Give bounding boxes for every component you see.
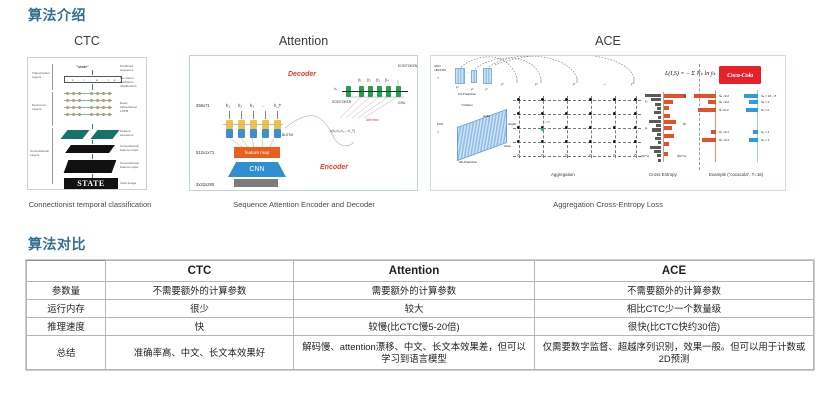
- ace-gray-bar: [652, 128, 661, 131]
- ace-orange-bar: [664, 106, 669, 110]
- ace-example-blue-label: N₁ = 1: [761, 130, 769, 134]
- ctc-node-link: [64, 93, 112, 94]
- cell-attention: 解码慢、attention漂移、中文、长文本效果差，但可以学习到语言模型: [294, 336, 535, 370]
- ace-lattice-col-line: [591, 96, 592, 158]
- ace-example-orange-label: N̄ₐ =0.2: [719, 100, 729, 104]
- attention-blstm-label: BLSTM: [282, 133, 293, 137]
- table-row: 总结准确率高、中文、长文本效果好解码慢、attention漂移、中文、长文本效果…: [27, 336, 814, 370]
- ace-gray-bar: [650, 146, 661, 149]
- cell-ctc: 准确率高、中文、长文本效果好: [106, 336, 294, 370]
- ace-panel-caption-aggregation: Aggregation: [551, 172, 575, 177]
- cell-ctc: 很少: [106, 300, 294, 318]
- attention-eos-label: EOS/TOKEN: [398, 64, 417, 68]
- ctc-annotation-per-frame: Per-framepredictiondistributions: [120, 77, 147, 89]
- attention-sos-label: SOS/TOKEN: [332, 100, 351, 104]
- ctc-node-link: [64, 107, 112, 108]
- row-label: 推理速度: [27, 318, 106, 336]
- ctc-node-link: [64, 100, 112, 101]
- ace-lattice-col-line: [519, 96, 520, 158]
- table-header-row: CTC Attention ACE: [27, 261, 814, 282]
- ace-example-orange-bar: [698, 108, 716, 112]
- ace-lattice-row-line: [513, 142, 641, 143]
- table-row: 运行内存很少较大相比CTC少一个数量级: [27, 300, 814, 318]
- attention-token-ellipsis: ...: [262, 103, 266, 108]
- ace-example-orange-label: N̄ₑ =0.2: [719, 94, 729, 98]
- attention-output-y2: y₂: [367, 77, 371, 82]
- ace-example-blue-bar: [749, 100, 758, 104]
- ace-orange-bar: [664, 134, 674, 138]
- ace-gray-bar: [654, 111, 661, 114]
- attention-token-h3: h₃: [250, 103, 254, 108]
- ctc-group-label-transcription: TranscriptionLayers: [32, 72, 52, 80]
- figure-ctc-diagram: TranscriptionLayers RecurrentLayers Conv…: [27, 57, 147, 190]
- ace-orange-bar: [664, 120, 676, 124]
- attention-feature-map-block: feature map: [234, 147, 280, 158]
- section-title-algorithm-intro: 算法介绍: [28, 5, 86, 25]
- row-label: 运行内存: [27, 300, 106, 318]
- cell-ctc: 不需要额外的计算参数: [106, 282, 294, 300]
- table-header-ace: ACE: [535, 261, 814, 282]
- ace-label-fcn: FCN: [437, 122, 443, 126]
- ctc-annotation-predicted-sequence: Predictedsequence: [120, 65, 146, 73]
- attention-input-image: [234, 179, 278, 187]
- attention-token-h1: h₁: [226, 103, 230, 108]
- attention-decoder-label: Decoder: [288, 71, 316, 78]
- attention-output-y3: y₃: [376, 77, 380, 82]
- attention-dim-input: 3x32x280: [196, 182, 214, 187]
- ace-gray-bar: [657, 154, 661, 157]
- figure-label-ctc: CTC: [27, 34, 147, 48]
- ace-gray-bar: [657, 107, 661, 110]
- attention-output-y1: y₁: [358, 77, 362, 82]
- ace-lattice-col-line: [636, 96, 637, 158]
- ace-example-blue-label: Nₒ = 2: [761, 138, 769, 142]
- ace-example-blue-bar: [753, 130, 758, 134]
- ctc-annotation-featmap-2: Convolutionalfeature maps: [120, 162, 146, 170]
- table-header-attention: Attention: [294, 261, 535, 282]
- ace-example-orange-bar: [694, 94, 716, 98]
- row-label: 参数量: [27, 282, 106, 300]
- ace-label-flatten: ⇧Flatten: [461, 103, 473, 107]
- ace-gray-bar: [658, 141, 661, 144]
- cell-ace: 很快(比CTC快约30倍): [535, 318, 814, 336]
- ctc-annotation-input-image: Input image: [120, 182, 146, 186]
- slide-root: 算法介绍 CTC Attention ACE TranscriptionLaye…: [0, 0, 832, 404]
- cell-attention: 较慢(比CTC慢5-20倍): [294, 318, 535, 336]
- section-title-algorithm-comparison: 算法对比: [28, 234, 86, 254]
- figure-label-attention: Attention: [189, 34, 418, 48]
- attention-h0-label: h₀: [334, 87, 337, 91]
- ace-lattice-row-line: [513, 156, 641, 157]
- cell-ace: 仅需要数字监督、超越序列识别，效果一般。但可以用于计数或2D预测: [535, 336, 814, 370]
- table-header-ctc: CTC: [106, 261, 294, 282]
- algorithm-comparison-table: CTC Attention ACE 参数量不需要额外的计算参数需要额外的计算参数…: [26, 260, 814, 370]
- figure-caption-ace: Aggregation Cross-Entropy Loss: [430, 200, 786, 209]
- ace-example-orange-bar: [711, 130, 716, 134]
- ace-gray-bar: [655, 103, 661, 106]
- ace-example-orange-label: N̄ₒ =0.2: [719, 138, 729, 142]
- ace-nbar-1: N̄₁: [683, 94, 686, 98]
- ace-label-cnn-blstm: CNN+BLSTM: [434, 64, 452, 72]
- ace-example-orange-bar: [702, 138, 716, 142]
- attention-attention-label: Attention: [366, 118, 379, 122]
- ace-lattice-col-line: [543, 96, 544, 158]
- table-row: 参数量不需要额外的计算参数需要额外的计算参数不需要额外的计算参数: [27, 282, 814, 300]
- ace-arrow-up-2: ⇧: [437, 130, 440, 134]
- ace-gray-bar: [645, 94, 661, 97]
- ace-orange-bar: [664, 142, 669, 146]
- ace-nbar-last: N̄|C^s|: [677, 154, 686, 158]
- ace-loss-equation: L(I,S) = − Σ N̄ₖ ln ȳₖ: [665, 70, 716, 77]
- attention-context-vector: c(h₁,h₂,h₃,...,h_T): [330, 129, 355, 133]
- table-row: 推理速度快较慢(比CTC慢5-20倍)很快(比CTC快约30倍): [27, 318, 814, 336]
- ace-panel-caption-cross-entropy: Cross Entropy: [649, 172, 677, 177]
- ace-orange-bar: [664, 100, 673, 104]
- ace-gray-bar: [649, 120, 661, 123]
- ace-example-orange-bar: [708, 100, 716, 104]
- cell-ace: 不需要额外的计算参数: [535, 282, 814, 300]
- ace-example-blue-label: Nₑ = 10 − 8: [761, 94, 776, 98]
- ctc-group-label-convolutional: ConvolutionalLayers: [30, 150, 53, 158]
- ace-ybar-last: ȳ|C^s|: [641, 154, 649, 158]
- ace-lattice-row-line: [513, 100, 641, 101]
- ace-orange-bar: [664, 126, 672, 130]
- ace-label-1d-prediction: 1D-Prediction: [458, 92, 476, 96]
- attention-output-y4: y₄: [385, 77, 389, 82]
- ace-lattice-col-line: [615, 96, 616, 158]
- ace-gray-bar: [655, 137, 661, 140]
- ace-panel-caption-example: Example ("cocacola", T=16): [709, 172, 763, 177]
- ctc-input-text: STATE: [77, 179, 105, 188]
- attention-encoder-label: Encoder: [320, 164, 348, 171]
- ace-label-2d-prediction: 2D-Prediction: [459, 160, 477, 164]
- ace-ybar-1: ȳ₁: [645, 99, 647, 103]
- ace-lattice-row-line: [513, 114, 641, 115]
- ace-gray-bar: [658, 116, 661, 119]
- ctc-group-label-recurrent: RecurrentLayers: [32, 104, 52, 112]
- figure-ace-diagram: CNN+BLSTM ⇧ FCN ⇧ - - y¹ y² y³ 1D-Predic…: [430, 55, 786, 191]
- ace-example-blue-bar: [749, 138, 758, 142]
- ace-nbar-k: N̄ₖ: [683, 122, 686, 126]
- ace-cocacola-logo: Coca-Cola: [719, 66, 761, 84]
- ctc-top-word: "state": [76, 64, 89, 69]
- ace-example-blue-bar: [746, 108, 758, 112]
- cell-attention: 较大: [294, 300, 535, 318]
- ace-lattice-col-line: [567, 96, 568, 158]
- attention-token-h2: h₂: [238, 103, 242, 108]
- ace-orange-bar: [664, 152, 668, 156]
- ace-orange-bar: [664, 114, 670, 118]
- ace-example-orange-label: N̄₁ =0.1: [719, 130, 729, 134]
- ace-arrow-up-1: ⇧: [437, 76, 440, 80]
- ace-2d-cube: [457, 109, 507, 161]
- cell-ctc: 快: [106, 318, 294, 336]
- ace-highlight-cell: [541, 128, 544, 131]
- attention-cnn-block: CNN: [228, 162, 286, 177]
- figure-label-ace: ACE: [430, 34, 786, 48]
- table-header-blank: [27, 261, 106, 282]
- ace-example-orange-label: N̄ₗ =0.3: [719, 108, 728, 112]
- figure-caption-ctc: Connectionist temporal classification: [0, 200, 180, 209]
- figure-caption-attention: Sequence Attention Encoder and Decoder: [186, 200, 422, 209]
- ace-gray-bar: [654, 150, 661, 153]
- ace-ybar-k: ȳₖ: [645, 126, 648, 130]
- cell-attention: 需要额外的计算参数: [294, 282, 535, 300]
- ace-example-blue-label: Nₐ = 2: [761, 100, 769, 104]
- ace-example-blue-bar: [744, 94, 758, 98]
- ace-gray-bar: [658, 159, 661, 162]
- ctc-annotation-lstm: DeepbidirectionalLSTM: [120, 102, 146, 114]
- ace-gray-bar: [651, 98, 661, 101]
- ace-gray-bar: [657, 133, 661, 136]
- ace-gray-bar: [656, 124, 661, 127]
- attention-dim-256x71: 256x71: [196, 103, 210, 108]
- attention-dim-512: 512x1x71: [196, 150, 214, 155]
- attention-gru-label: GRU: [398, 101, 405, 105]
- figure-attention-diagram: 256x71 512x1x71 3x32x280 CNN feature map: [189, 55, 418, 191]
- attention-token-hT: h_T: [274, 103, 281, 108]
- row-label: 总结: [27, 336, 106, 370]
- ctc-node-link: [64, 114, 112, 115]
- ace-lattice-row-line: [513, 128, 641, 129]
- ace-example-blue-label: Nₗ = 3: [761, 108, 769, 112]
- cell-ace: 相比CTC少一个数量级: [535, 300, 814, 318]
- ctc-annotation-feature-seq: Featuresequence: [120, 130, 146, 138]
- ctc-annotation-featmap-1: Convolutionalfeature maps: [120, 145, 146, 153]
- ace-cell-label: y_t^k: [543, 120, 550, 124]
